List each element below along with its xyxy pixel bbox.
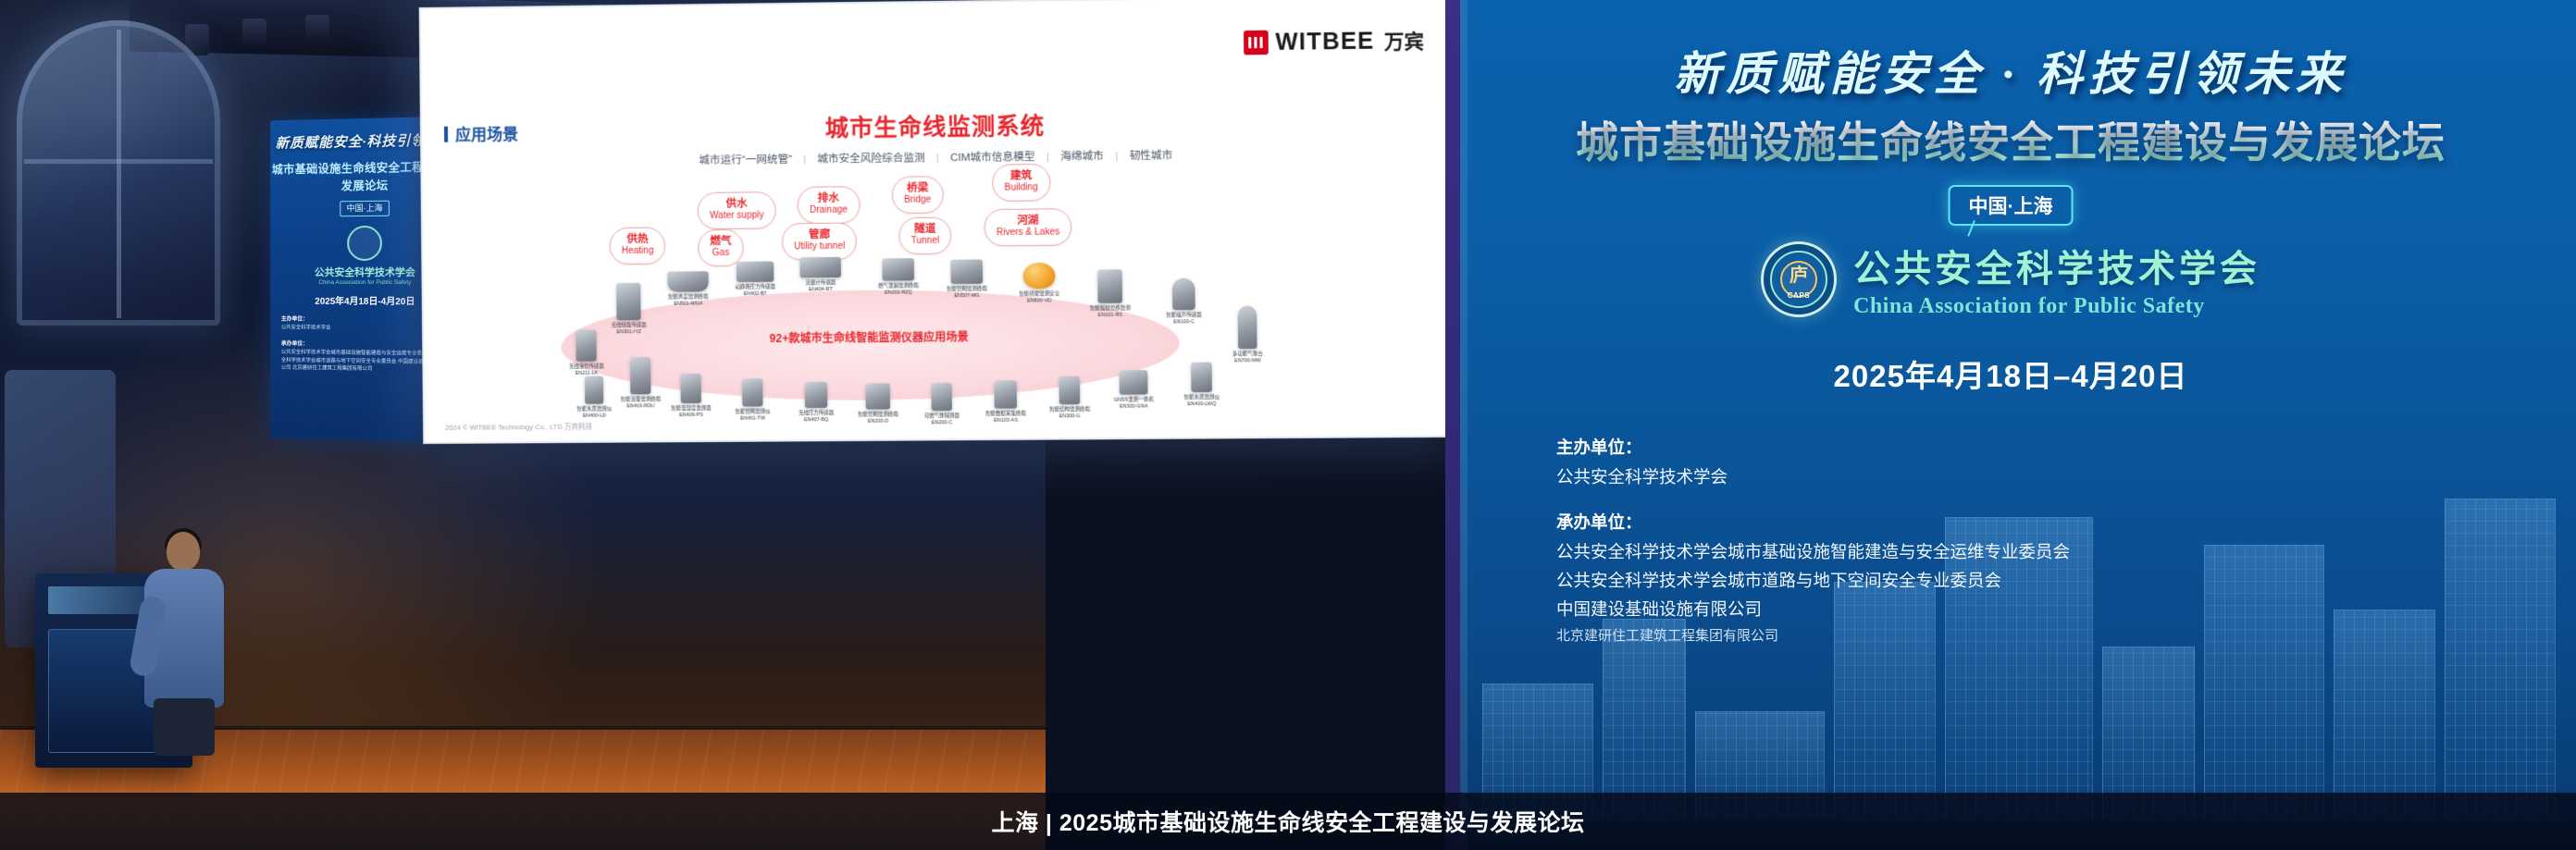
device-item: 智能裂缝位移监测 EN101-RS [1075,269,1146,318]
device-model: EN404-RT [786,287,855,293]
device-item: 智能管网监测仪 EN401-TW [718,378,787,421]
device-model: EN100-C [1149,319,1220,326]
device-image [616,283,641,320]
stage-light-icon [305,15,329,46]
building-shape [1603,619,1686,822]
witbee-mark-icon [1244,31,1269,55]
association-text: 公共安全科学技术学会 China Association for Public … [1853,239,2260,319]
subtitle-sep: | [798,154,811,166]
device-model: EN402-BT [721,290,790,297]
device-item: 智能结构监测终端 EN300-G [1034,376,1105,420]
slide-footer: 2024 © WITBEE Technology Co., LTD 万宾科技 [445,422,592,433]
device-model: EN600-VD [1005,298,1074,304]
building-shape [2334,610,2435,822]
device-image [1023,263,1056,289]
bubble-cn: 管廊 [794,228,845,242]
coorganizer-item: 中国建设基础设施有限公司 [1556,597,2070,621]
device-image [742,378,762,406]
device-image [799,257,841,278]
device-item: GNSS监测一体机 EN300-GNA [1098,370,1169,410]
scenario-bubble-water-supply: 供水 Water supply [698,191,776,229]
bubble-cn: 供水 [710,197,764,211]
device-item: 智能桥梁监测安全 EN600-VD [1004,263,1074,304]
caps-emblem-icon: 庐 CAPS [1761,241,1837,317]
scenario-bubble-rivers-lakes: 河湖 Rivers & Lakes [984,208,1071,246]
bubble-en: Heating [622,246,654,258]
side-banner-host-label: 主办单位： [281,316,308,322]
side-banner-chip: 中国·上海 [340,201,390,217]
device-item: 智能管网监测终端 EN200-D [843,383,912,425]
device-item: 智能噪声传感器 EN100-C [1148,277,1219,325]
device-item: 无线压力传感器 EN407-BQ [781,382,850,424]
bubble-en: Building [1005,183,1038,195]
bubble-cn: 供热 [622,233,654,247]
speaker-legs [154,698,215,756]
device-model: EN300-G [1034,413,1104,420]
bubble-cn: 桥梁 [904,181,931,195]
building-shape [2445,499,2556,822]
bubble-en: Water supply [710,211,764,223]
device-image [882,258,914,280]
coorganizer-label: 承办单位： [1556,510,2070,534]
caption-text: 上海 | 2025城市基础设施生命线安全工程建设与发展论坛 [991,805,1584,838]
backdrop-association-block: 庐 CAPS 公共安全科学技术学会 China Association for … [1445,239,2576,319]
device-model: EN400-LWQ [1167,401,1237,408]
organizer-gap [1556,493,2070,510]
bubble-cn: 建筑 [1004,169,1037,183]
backdrop-organizers: 主办单位： 公共安全科学技术学会 承办单位： 公共安全科学技术学会城市基础设施智… [1556,435,2070,645]
witbee-logo-latin: WITBEE [1275,28,1374,56]
coorganizer-item: 公共安全科学技术学会城市基础设施智能建造与安全运维专业委员会 [1556,539,2070,563]
bubble-en: Rivers & Lakes [997,228,1060,240]
scenario-bubble-tunnel: 隧道 Tunnel [898,216,951,254]
device-model: EN202-RZQ [863,289,933,296]
device-item: 智能井盖监测终端 EN501-WGA [653,271,723,307]
side-banner-host-name: 公共安全科学技术学会 [281,325,331,330]
device-image [805,382,828,408]
coorganizer-item: 公共安全科学技术学会城市道路与地下空间安全专业委员会 [1556,568,2070,592]
scenario-bubble-building: 建筑 Building [992,164,1050,202]
backdrop-calligraphy-slogan: 新质赋能安全 · 科技引领未来 [1445,37,2576,104]
device-model: EN501-WGA [653,301,723,307]
device-item: 智能数据采集终端 EN103-AS [971,380,1041,424]
backdrop-main-title: 城市基础设施生命线安全工程建设与发展论坛 [1445,109,2576,170]
device-image [1238,305,1257,349]
device-item: 智能水质监测仪 EN400-LWQ [1167,362,1237,407]
device-item: 可燃气体探测器 EN200-C [907,383,977,426]
bubble-cn: 河湖 [997,214,1060,228]
device-image [865,383,890,409]
device-image [737,262,774,282]
association-name-en: China Association for Public Safety [1853,294,2260,319]
scenario-bubble-heating: 供热 Heating [609,227,665,265]
device-image [630,357,651,394]
subtitle-item: 城市运行“一网统管” [693,154,798,166]
scenario-bubble-drainage: 排水 Drainage [798,186,861,224]
backdrop-event-date: 2025年4月18日–4月20日 [1445,351,2576,396]
projection-screen-slide: WITBEE 万宾 应用场景 城市生命线监测系统 城市运行“一网统管”|城市安全… [419,0,1460,444]
device-model: EN507-MG [932,292,1001,299]
device-model: EN103-AS [971,417,1040,424]
association-name-cn: 公共安全科学技术学会 [1853,239,2260,292]
bubble-en: Gas [710,248,731,260]
bubble-cn: 隧道 [910,223,939,237]
device-item-weather-station: 多功能气象台 EN700-MW [1212,305,1282,363]
device-item: 智能管网监测终端 EN507-MG [932,259,1002,299]
scenario-bubble-bridge: 桥梁 Bridge [892,176,944,214]
bubble-en: Tunnel [911,236,940,248]
device-image [994,380,1017,408]
device-model: EN300-GNA [1099,403,1170,410]
device-image [1097,269,1122,303]
device-model: EN407-BQ [782,417,851,424]
caps-logo-icon [347,226,382,261]
backdrop-location-chip: 中国·上海 [1949,185,2074,226]
device-image [931,383,952,411]
side-banner-coorg-label: 承办单位： [281,341,308,347]
bubble-cn: 排水 [810,191,848,205]
stage-light-icon [242,18,266,50]
subtitle-item: 海绵城市 [1055,151,1109,163]
subtitle-item: 城市安全风险综合监测 [811,153,931,165]
host-name: 公共安全科学技术学会 [1556,464,2070,488]
subtitle-item: CIM城市信息模型 [945,152,1041,164]
device-image [1120,370,1148,394]
device-item: 动静扬压力传感器 EN402-BT [721,261,790,297]
coorganizer-item-last: 北京建研住工建筑工程集团有限公司 [1556,625,2070,645]
conference-backdrop-panel: 新质赋能安全 · 科技引领未来 城市基础设施生命线安全工程建设与发展论坛 中国·… [1445,0,2576,850]
device-model: EN400-LD [560,413,628,419]
scenario-bubble-utility-tunnel: 管廊 Utility tunnel [782,222,858,260]
bubble-cn: 燃气 [710,235,731,249]
screenshot-root: 新质赋能安全·科技引领未来 城市基础设施生命线安全工程建设与发展论坛 中国·上海… [0,0,2576,850]
device-image [950,260,983,285]
device-model: EN200-D [844,418,913,425]
device-image [667,271,709,291]
device-model: EN401-TW [718,415,787,422]
device-model: EN101-RS [1075,312,1145,318]
device-image [1172,278,1195,311]
device-image [680,374,700,403]
witbee-logo-cn: 万宾 [1384,27,1424,55]
building-shape [2204,545,2324,822]
device-model: EN700-MW [1213,358,1283,364]
arched-window [17,20,220,326]
device-item: 流量计传感器 EN404-RT [786,257,855,293]
subtitle-item: 韧性城市 [1123,150,1178,162]
subtitle-sep: | [931,153,945,164]
device-image [1191,363,1212,393]
device-item: 智能温湿度监测器 EN409-PS [656,374,725,418]
emblem-glyph: 庐 [1790,266,1808,285]
device-item: 燃气泄漏监测终端 EN202-RZQ [863,258,933,296]
device-model: EN409-PS [657,412,726,418]
device-model: EN200-C [907,420,976,426]
speaker-person [139,532,228,754]
device-image [576,329,596,361]
witbee-logo: WITBEE 万宾 [1244,27,1425,57]
emblem-abbr: CAPS [1764,291,1834,300]
host-label: 主办单位： [1556,435,2070,459]
device-image [585,376,603,404]
bottom-caption-bar: 上海 | 2025城市基础设施生命线安全工程建设与发展论坛 [0,793,2576,850]
bubble-en: Bridge [904,195,931,207]
speaker-head [167,532,200,571]
bubble-en: Utility tunnel [794,241,845,253]
subtitle-sep: | [1109,151,1123,162]
bubble-en: Drainage [810,205,848,217]
device-image [1059,376,1080,404]
subtitle-sep: | [1041,152,1055,163]
